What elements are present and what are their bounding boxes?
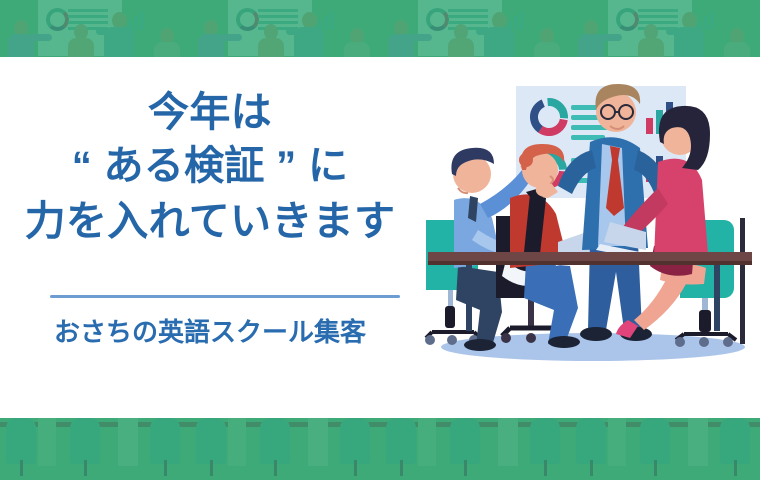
- text-column: 今年は “ ある検証 ” に 力を入れていきます おさちの英語スクール集客: [0, 57, 420, 418]
- divider-rule: [50, 295, 400, 298]
- banner-root: 今年は “ ある検証 ” に 力を入れていきます おさちの英語スクール集客: [0, 0, 760, 480]
- bottom-band-wash: [0, 418, 760, 480]
- bottom-pattern-band: [0, 418, 760, 480]
- business-meeting-illustration: [418, 70, 760, 390]
- subtitle: おさちの英語スクール集客: [0, 313, 420, 352]
- headline-line-1: 今年は: [0, 85, 420, 140]
- headline-line-3: 力を入れていきます: [0, 194, 420, 249]
- top-band-wash: [0, 0, 760, 57]
- headline: 今年は “ ある検証 ” に 力を入れていきます: [0, 85, 420, 248]
- top-pattern-band: [0, 0, 760, 57]
- headline-line-2: “ ある検証 ” に: [0, 140, 420, 194]
- leg-lower-right: [634, 276, 686, 330]
